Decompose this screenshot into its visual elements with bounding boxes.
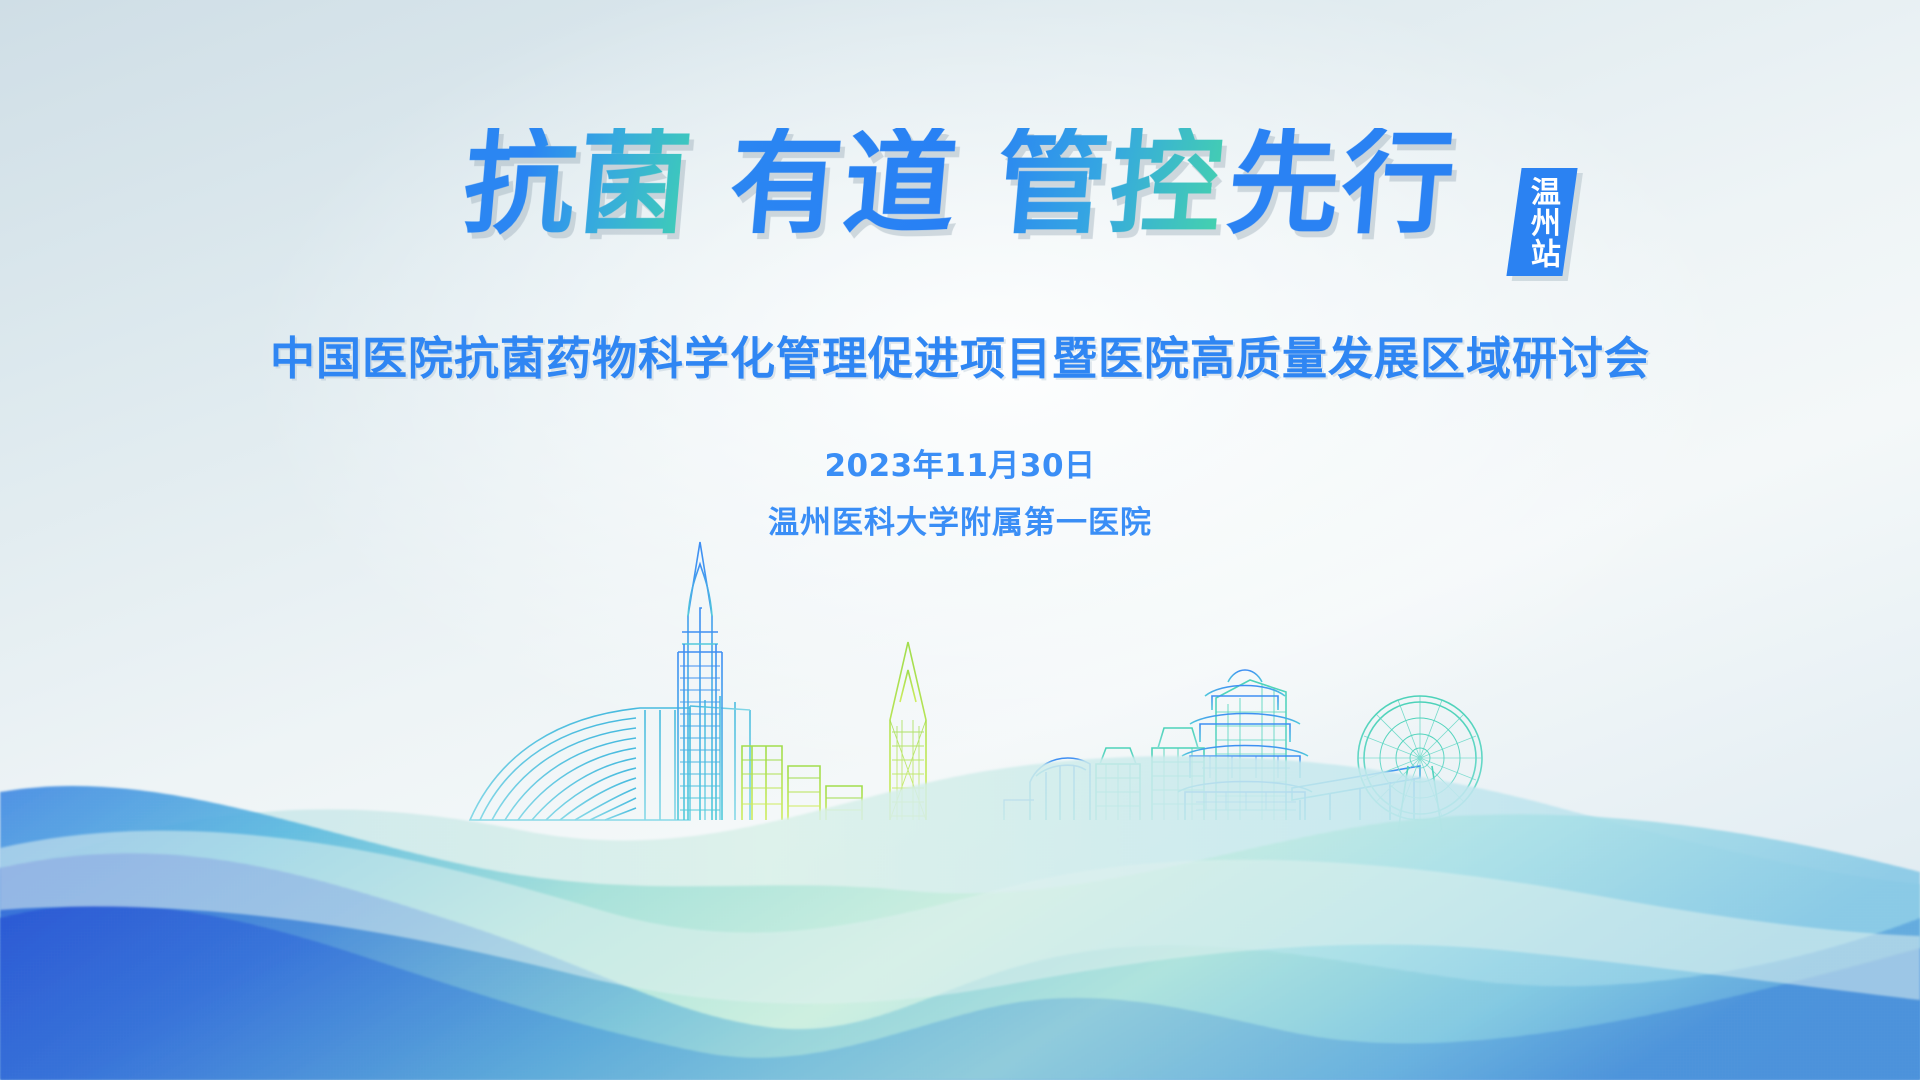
city-station-badge-label: 温州站 bbox=[1526, 176, 1559, 269]
title-part-two: 有道 bbox=[723, 128, 965, 240]
title-part-three: 管控 bbox=[989, 128, 1231, 240]
flowing-mesh-wave bbox=[0, 680, 1920, 1080]
event-venue: 温州医科大学附属第一医院 bbox=[0, 497, 1920, 542]
event-subtitle: 中国医院抗菌药物科学化管理促进项目暨医院高质量发展区域研讨会 bbox=[0, 322, 1920, 387]
main-title: 抗菌有道管控先行 bbox=[0, 128, 1920, 240]
title-part-four: 先行 bbox=[1221, 128, 1463, 240]
event-date: 2023年11月30日 bbox=[0, 440, 1920, 485]
event-meta: 2023年11月30日 温州医科大学附属第一医院 bbox=[0, 440, 1920, 542]
poster-canvas: 抗菌有道管控先行 温州站 中国医院抗菌药物科学化管理促进项目暨医院高质量发展区域… bbox=[0, 0, 1920, 1080]
title-part-one: 抗菌 bbox=[457, 128, 699, 240]
